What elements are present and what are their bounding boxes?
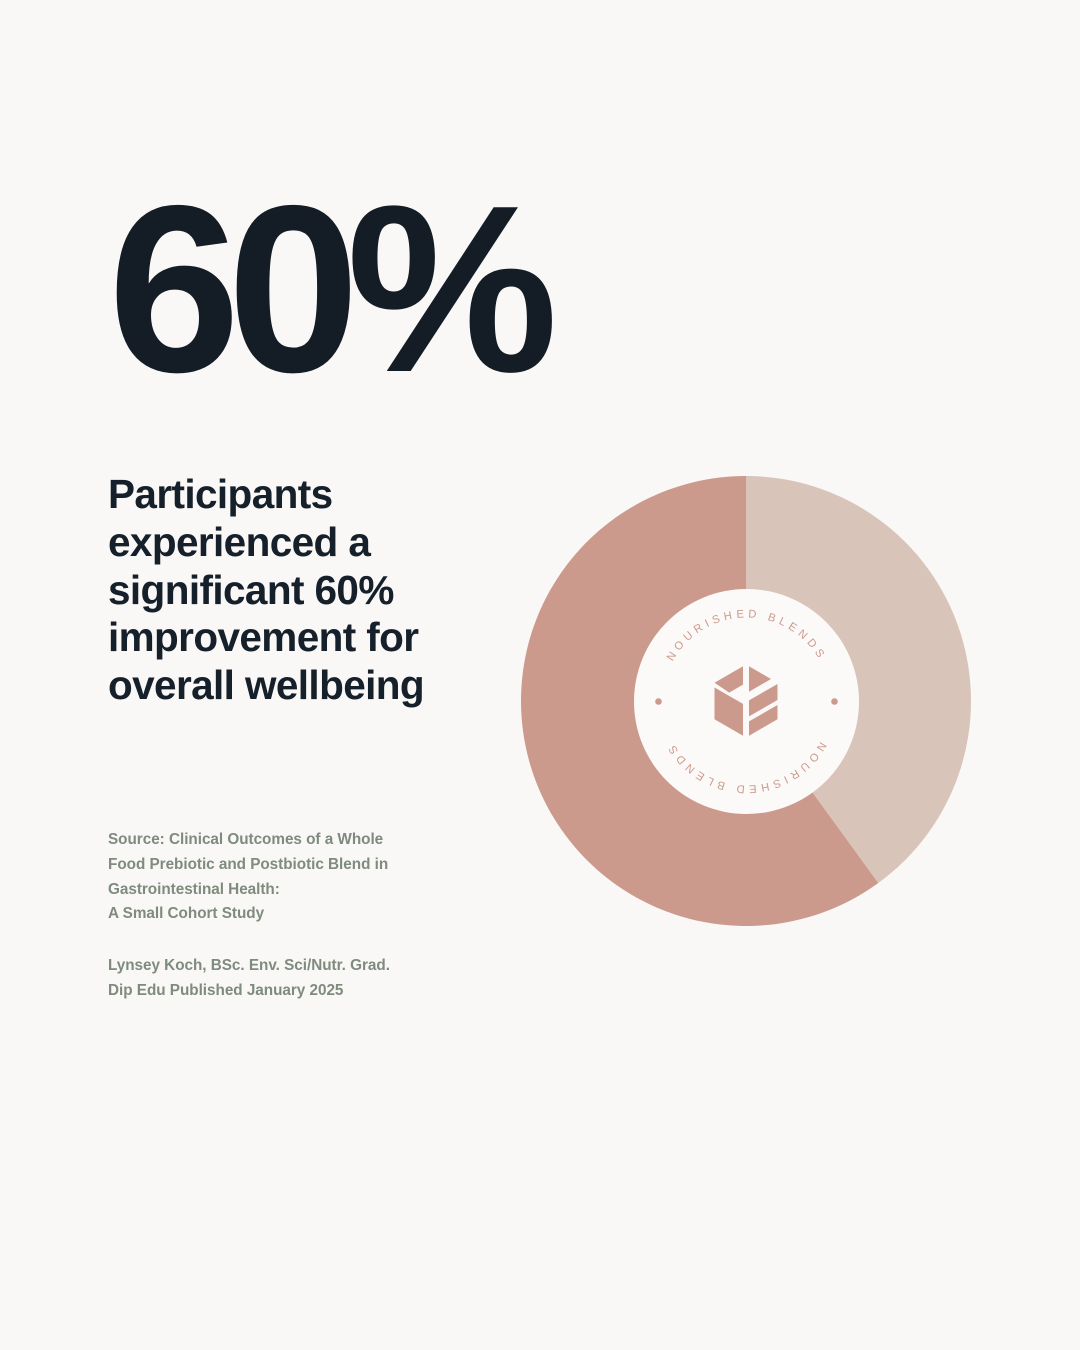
badge-text-top: NOURISHED BLENDS <box>664 608 828 663</box>
badge-separator-dot-right <box>831 698 838 705</box>
source-line-3: Gastrointestinal Health: <box>108 878 468 903</box>
source-line-2: Food Prebiotic and Postbiotic Blend in <box>108 853 468 878</box>
badge-text-bottom: NOURISHED BLENDS <box>664 739 828 794</box>
badge-separator-dot-left <box>655 698 662 705</box>
stat-text-column: 60% Participants experienced a significa… <box>108 195 578 709</box>
cube-leaf-icon <box>712 664 780 738</box>
source-citation-block: Source: Clinical Outcomes of a Whole Foo… <box>108 828 468 1004</box>
author-line-2: Dip Edu Published January 2025 <box>108 979 468 1004</box>
wellbeing-pie-chart: NOURISHED BLENDS NOURISHED BLENDS <box>521 476 971 926</box>
infographic-canvas: 60% Participants experienced a significa… <box>0 0 1080 1350</box>
brand-badge: NOURISHED BLENDS NOURISHED BLENDS <box>634 589 859 814</box>
headline-stat-value: 60% <box>108 195 578 385</box>
author-line-1: Lynsey Koch, BSc. Env. Sci/Nutr. Grad. <box>108 954 468 979</box>
source-line-4: A Small Cohort Study <box>108 902 468 927</box>
page-title: Participants experienced a significant 6… <box>108 471 468 709</box>
source-line-1: Source: Clinical Outcomes of a Whole <box>108 828 468 853</box>
